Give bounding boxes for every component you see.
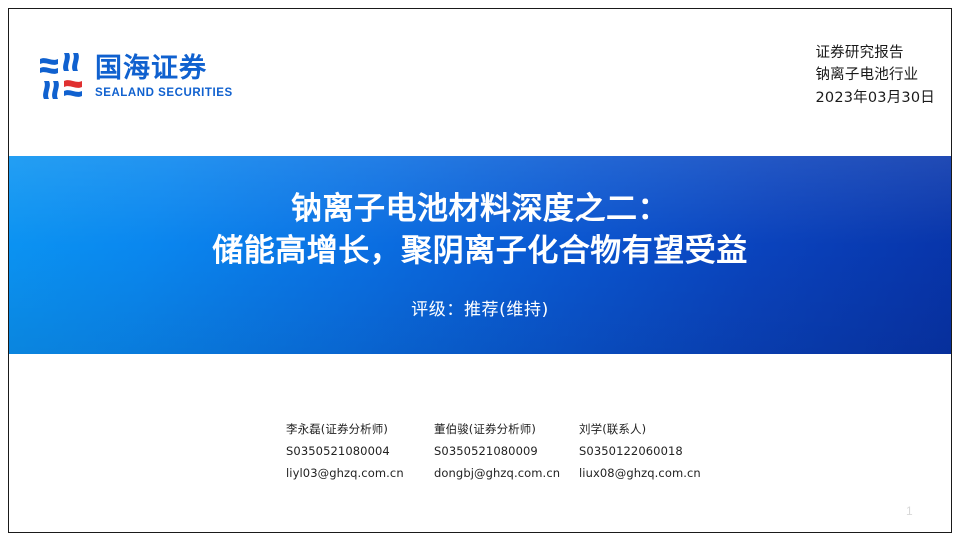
analyst-name: 李永磊(证券分析师) — [286, 418, 434, 440]
page-number: 1 — [906, 504, 913, 518]
sealand-emblem-icon — [38, 51, 86, 103]
page-title: 钠离子电池材料深度之二： 储能高增长，聚阴离子化合物有望受益 — [212, 188, 748, 273]
page-title-line-1: 钠离子电池材料深度之二： — [212, 188, 748, 230]
analyst-entry: 李永磊(证券分析师) S0350521080004 liyl03@ghzq.co… — [286, 418, 434, 484]
analyst-name: 刘学(联系人) — [579, 418, 729, 440]
report-date-label: 2023年03月30日 — [815, 87, 935, 109]
analyst-name: 董伯骏(证券分析师) — [434, 418, 579, 440]
brand-name-cn: 国海证券 — [95, 55, 233, 83]
analyst-list: 李永磊(证券分析师) S0350521080004 liyl03@ghzq.co… — [286, 418, 729, 484]
analyst-license: S0350122060018 — [579, 440, 729, 462]
brand-logo: 国海证券 SEALAND SECURITIES — [38, 51, 233, 103]
report-type-label: 证券研究报告 — [815, 42, 935, 64]
analyst-entry: 刘学(联系人) S0350122060018 liux08@ghzq.com.c… — [579, 418, 729, 484]
analyst-entry: 董伯骏(证券分析师) S0350521080009 dongbj@ghzq.co… — [434, 418, 579, 484]
analyst-email[interactable]: liyl03@ghzq.com.cn — [286, 462, 434, 484]
page-header: 国海证券 SEALAND SECURITIES 证券研究报告 钠离子电池行业 2… — [9, 9, 951, 155]
page-title-line-2: 储能高增长，聚阴离子化合物有望受益 — [212, 230, 748, 272]
analyst-license: S0350521080004 — [286, 440, 434, 462]
industry-label: 钠离子电池行业 — [815, 64, 935, 86]
rating-label: 评级：推荐(维持) — [411, 295, 549, 320]
analyst-license: S0350521080009 — [434, 440, 579, 462]
brand-wordmark: 国海证券 SEALAND SECURITIES — [95, 53, 233, 100]
analyst-email[interactable]: dongbj@ghzq.com.cn — [434, 462, 579, 484]
report-cover-page: 国海证券 SEALAND SECURITIES 证券研究报告 钠离子电池行业 2… — [8, 8, 952, 533]
brand-name-en: SEALAND SECURITIES — [95, 87, 233, 101]
title-banner: 钠离子电池材料深度之二： 储能高增长，聚阴离子化合物有望受益 评级：推荐(维持) — [9, 156, 951, 354]
report-meta: 证券研究报告 钠离子电池行业 2023年03月30日 — [815, 42, 935, 109]
analyst-email[interactable]: liux08@ghzq.com.cn — [579, 462, 729, 484]
